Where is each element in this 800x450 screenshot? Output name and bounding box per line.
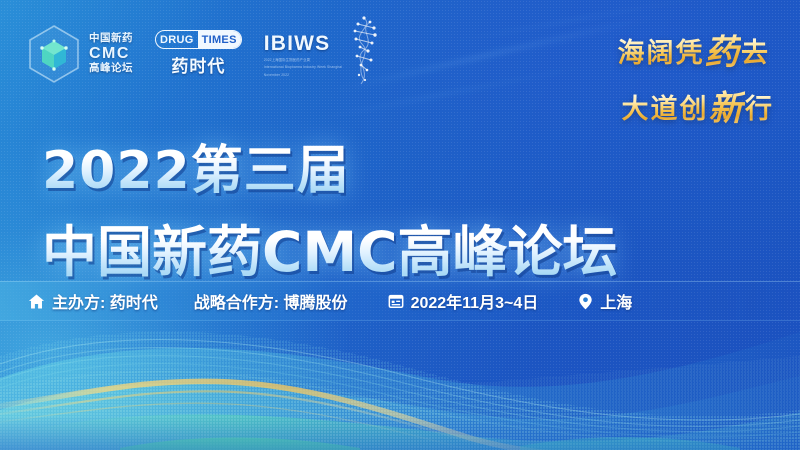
home-icon — [28, 293, 45, 310]
event-poster: 中国新药 CMC 高峰论坛 DRUG TIMES 药时代 IBIWS 2022上… — [0, 0, 800, 450]
drug-times-logo: DRUG TIMES 药时代 — [155, 30, 242, 78]
title-line-2: 中国新药CMC高峰论坛 — [42, 207, 617, 287]
cmc-logo-line1: 中国新药 — [89, 33, 133, 44]
map-pin-icon — [578, 293, 593, 310]
info-location: 上海 — [578, 289, 632, 313]
ibiws-logo: IBIWS 2022上海国际生物医药产业周 International Biop… — [264, 14, 380, 93]
drug-times-pill-right: TIMES — [198, 31, 241, 48]
event-slogan: 海阔凭药去 大道创新行 — [617, 22, 770, 128]
ibiws-subtitle-3: November 2022 — [264, 73, 342, 78]
title-line-1: 2022第三届 — [42, 128, 617, 203]
info-organizer-label: 主办方: 药时代 — [52, 289, 158, 313]
ibiws-acronym: IBIWS — [264, 32, 342, 56]
slogan-line1-emphasis: 药 — [704, 24, 741, 74]
info-organizer: 主办方: 药时代 — [28, 289, 158, 313]
drug-times-pill: DRUG TIMES — [155, 30, 242, 49]
info-partner: 战略合作方: 博腾股份 — [194, 289, 348, 313]
cmc-logo-line2: CMC — [89, 45, 133, 62]
dna-helix-icon — [344, 14, 380, 93]
light-streak — [334, 15, 656, 92]
hexagon-cube-icon — [26, 23, 82, 85]
logo-row: 中国新药 CMC 高峰论坛 DRUG TIMES 药时代 IBIWS 2022上… — [26, 14, 380, 93]
cmc-forum-logo: 中国新药 CMC 高峰论坛 — [26, 23, 133, 85]
page-title: 2022第三届 中国新药CMC高峰论坛 — [42, 128, 617, 287]
calendar-icon — [388, 293, 404, 309]
slogan-line1-b: 去 — [741, 38, 770, 69]
ibiws-subtitle-1: 2022上海国际生物医药产业周 — [264, 58, 342, 63]
ibiws-subtitle-2: International Biopharma Industry Week Sh… — [264, 65, 342, 70]
info-date: 2022年11月3~4日 — [388, 289, 539, 313]
drug-times-chinese: 药时代 — [155, 52, 242, 77]
slogan-line1-a: 海阔凭 — [617, 38, 704, 69]
slogan-line2-a: 大道创 — [621, 94, 708, 125]
info-location-label: 上海 — [600, 289, 632, 313]
slogan-line2-b: 行 — [745, 94, 774, 125]
info-date-label: 2022年11月3~4日 — [411, 289, 539, 313]
event-info-bar: 主办方: 药时代 战略合作方: 博腾股份 2022年11月3~4日 — [0, 281, 800, 321]
slogan-line2-emphasis: 新 — [708, 80, 745, 130]
cmc-logo-line3: 高峰论坛 — [89, 63, 133, 74]
drug-times-pill-left: DRUG — [156, 31, 198, 48]
info-partner-label: 战略合作方: 博腾股份 — [194, 289, 348, 313]
